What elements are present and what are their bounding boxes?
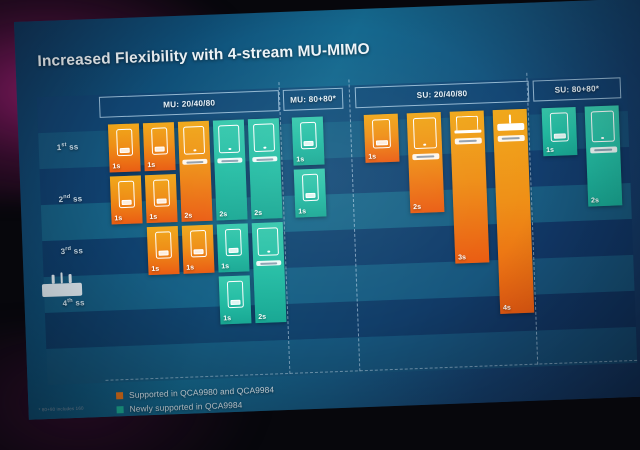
access-point-bar-icon [494, 135, 528, 142]
device-tile[interactable]: 2s [252, 222, 287, 323]
tablet-icon [590, 111, 614, 143]
mu-mimo-chart: MU: 20/40/80MU: 80+80*SU: 20/40/80SU: 80… [36, 61, 637, 383]
stream-count-label: 3s [455, 254, 466, 263]
tile-glyphs [217, 223, 249, 263]
tile-glyphs [145, 174, 177, 214]
smartphone-icon [299, 122, 316, 150]
tile-glyphs [407, 112, 444, 204]
tile-glyphs [143, 122, 175, 162]
legend-item: Supported in QCA9980 and QCA9984 [116, 385, 274, 401]
tile-glyphs [493, 109, 534, 305]
group-header-label: SU: 80+80* [554, 84, 599, 95]
tile-glyphs [108, 123, 140, 163]
tile-glyphs [182, 225, 214, 265]
group-header-label: MU: 80+80* [290, 94, 336, 105]
tablet-icon [218, 125, 240, 154]
device-tile[interactable]: 1s [364, 114, 400, 163]
smartphone-icon [372, 119, 391, 149]
device-tile[interactable]: 2s [213, 119, 248, 220]
device-tile[interactable]: 2s [585, 105, 623, 206]
stream-count-label: 2s [251, 210, 262, 219]
stream-count-label: 1s [183, 264, 194, 273]
stream-count-label: 1s [109, 163, 120, 172]
group-header-su-80-80: SU: 80+80* [533, 77, 622, 101]
device-tile[interactable]: 1s [294, 168, 327, 217]
smartphone-icon [118, 181, 135, 209]
access-point-bar-icon [408, 153, 442, 160]
access-point-bar-icon [214, 157, 245, 163]
device-tile[interactable]: 1s [219, 275, 252, 324]
access-point-bar-icon [451, 137, 485, 144]
page-title: Increased Flexibility with 4-stream MU-M… [37, 41, 370, 71]
stream-count-label: 2s [410, 204, 421, 213]
access-point-bar-icon [179, 159, 210, 165]
device-tile[interactable]: 1s [110, 175, 143, 224]
device-tile[interactable]: 3s [450, 110, 490, 263]
photo-of-projected-slide: Increased Flexibility with 4-stream MU-M… [0, 0, 640, 450]
tile-glyphs [292, 116, 324, 156]
tablet-icon [257, 227, 279, 256]
access-point-bar-icon [253, 260, 284, 266]
access-point-bar-icon [586, 146, 620, 153]
stream-count-label: 4s [500, 305, 511, 314]
stream-count-label: 1s [144, 162, 155, 171]
smartphone-icon [116, 129, 133, 157]
row-label-4-ss: 4th ss [62, 298, 84, 308]
device-tile[interactable]: 1s [147, 226, 180, 275]
device-tile[interactable]: 2s [178, 121, 213, 222]
smartphone-icon [151, 127, 168, 155]
stream-count-label: 1s [295, 208, 306, 217]
tablet-icon [412, 117, 436, 149]
device-tile[interactable]: 1s [143, 122, 176, 171]
smartphone-icon [224, 229, 241, 257]
stream-count-label: 1s [293, 156, 304, 165]
stream-count-label: 1s [365, 154, 376, 163]
smartphone-icon [154, 231, 171, 259]
smartphone-icon [550, 112, 569, 142]
router-icon [493, 114, 528, 131]
stream-count-label: 2s [588, 197, 599, 206]
device-tile[interactable]: 1s [292, 116, 325, 165]
tile-glyphs [147, 226, 179, 266]
stream-count-label: 1s [220, 315, 231, 324]
stream-count-label: 1s [543, 147, 554, 156]
tablet-icon [183, 126, 205, 155]
group-header-label: MU: 20/40/80 [163, 99, 215, 110]
device-tile[interactable]: 1s [108, 123, 141, 172]
row-label-2-ss: 2nd ss [59, 194, 83, 205]
tile-glyphs [248, 118, 282, 210]
row-label-3-ss: 3rd ss [60, 246, 83, 256]
stream-count-label: 2s [181, 212, 192, 221]
slide-canvas: Increased Flexibility with 4-stream MU-M… [14, 0, 640, 420]
legend-swatch-orange [116, 392, 123, 399]
legend-item: Newly supported in QCA9984 [116, 398, 274, 414]
slide-surface: Increased Flexibility with 4-stream MU-M… [14, 0, 640, 422]
legend-swatch-teal [116, 406, 123, 413]
stream-count-label: 2s [255, 314, 266, 323]
tile-glyphs [364, 114, 399, 154]
group-header-mu-80-80: MU: 80+80* [283, 88, 344, 111]
stream-count-label: 1s [218, 263, 229, 272]
legend-label: Newly supported in QCA9984 [129, 400, 242, 414]
stream-count-label: 2s [216, 211, 227, 220]
access-point-bar-icon [249, 156, 280, 162]
tile-glyphs [252, 222, 286, 314]
group-header-label: SU: 20/40/80 [417, 89, 468, 100]
tile-glyphs [213, 119, 247, 211]
tile-glyphs [450, 110, 489, 254]
tile-glyphs [585, 105, 622, 197]
device-tile[interactable]: 1s [542, 107, 578, 156]
stream-count-label: 1s [111, 215, 122, 224]
device-tile[interactable]: 2s [248, 118, 283, 219]
stream-count-label: 1s [146, 214, 157, 223]
footnote: * 80+80 includes 160 [38, 406, 83, 413]
tile-glyphs [294, 168, 326, 208]
tile-glyphs [110, 175, 142, 215]
tile-glyphs [219, 275, 251, 315]
device-tile[interactable]: 2s [407, 112, 445, 213]
smartphone-icon [189, 230, 206, 258]
device-tile[interactable]: 1s [145, 174, 178, 223]
stream-count-label: 1s [148, 266, 159, 275]
tablet-icon [253, 123, 275, 152]
access-point-icon [41, 272, 82, 297]
legend-label: Supported in QCA9980 and QCA9984 [129, 385, 274, 400]
row-label-1-ss: 1st ss [57, 142, 79, 152]
device-tile[interactable]: 1s [217, 223, 250, 272]
tile-glyphs [542, 107, 577, 147]
laptop-icon [450, 115, 485, 133]
chart-legend: Supported in QCA9980 and QCA9984Newly su… [116, 385, 275, 419]
smartphone-icon [301, 174, 318, 202]
smartphone-icon [226, 281, 243, 309]
tile-glyphs [178, 121, 212, 213]
smartphone-icon [153, 179, 170, 207]
device-tile[interactable]: 1s [182, 225, 215, 274]
